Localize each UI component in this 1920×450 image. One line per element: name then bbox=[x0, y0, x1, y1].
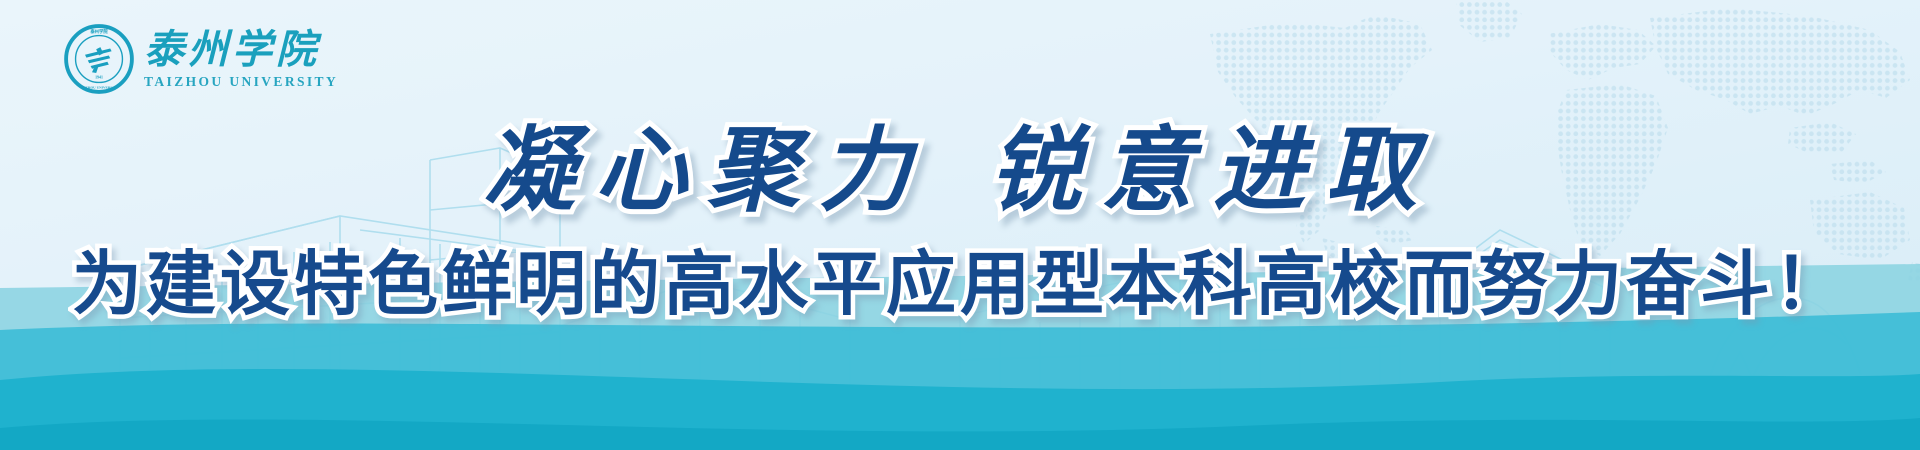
seal-year: 1941 bbox=[95, 76, 103, 80]
university-logo[interactable]: 泰州学院 TAIZHOU UNIVERSITY 1941 泰州学院 TAIZHO… bbox=[64, 24, 338, 94]
university-seal-icon: 泰州学院 TAIZHOU UNIVERSITY 1941 bbox=[64, 24, 134, 94]
headline-line-1-container: 凝心聚力锐意进取 bbox=[0, 96, 1920, 229]
svg-text:TAIZHOU UNIVERSITY: TAIZHOU UNIVERSITY bbox=[79, 85, 119, 89]
headline-line-2-container: 为建设特色鲜明的高水平应用型本科高校而努力奋斗！ bbox=[0, 228, 1920, 329]
headline-line-1-part-2: 锐意进取 bbox=[989, 120, 1437, 222]
dotted-world-map-icon bbox=[1170, 0, 1920, 294]
logo-name-cn: 泰州学院 bbox=[144, 30, 338, 70]
wave-bands-icon bbox=[0, 260, 1920, 450]
headline-line-1: 凝心聚力锐意进取 bbox=[483, 96, 1437, 229]
headline-line-2: 为建设特色鲜明的高水平应用型本科高校而努力奋斗！ bbox=[72, 228, 1848, 329]
svg-text:泰州学院: 泰州学院 bbox=[90, 28, 108, 35]
campus-line-art-icon bbox=[0, 120, 1920, 450]
university-banner: 泰州学院 TAIZHOU UNIVERSITY 1941 泰州学院 TAIZHO… bbox=[0, 0, 1920, 450]
headline-line-1-part-1: 凝心聚力 bbox=[483, 120, 931, 222]
logo-name-en: TAIZHOU UNIVERSITY bbox=[144, 75, 338, 89]
